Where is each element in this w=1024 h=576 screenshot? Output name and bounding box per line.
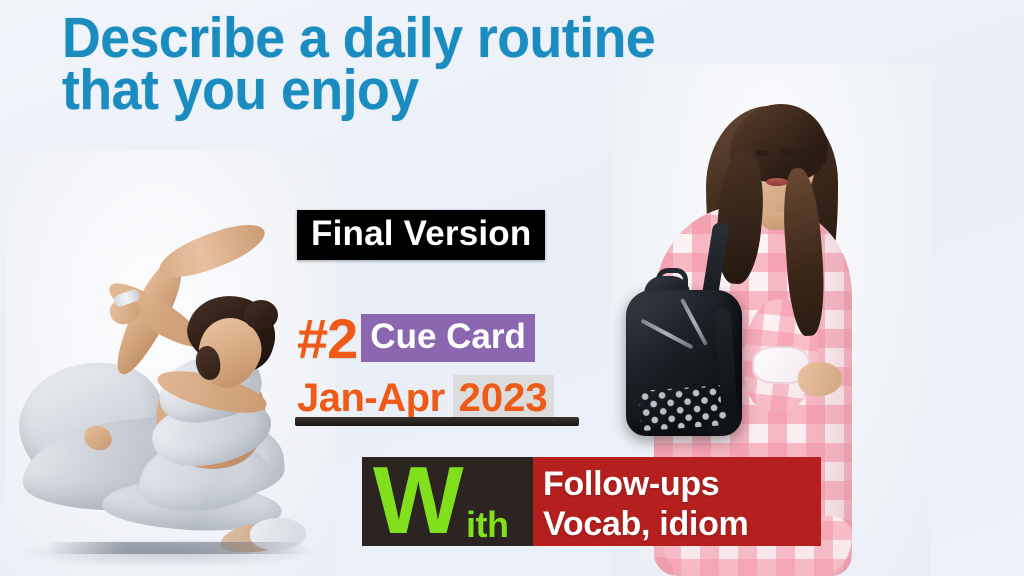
eyebrow-right [779,142,795,145]
backpack-studs [639,385,728,431]
final-version-badge: Final Version [297,210,545,260]
cue-card-number: #2 [297,312,357,366]
with-followups-block: W ith Follow-ups Vocab, idiom [362,457,821,546]
with-ith-letters: ith [466,507,508,543]
video-thumbnail: Describe a daily routine that you enjoy … [0,0,1024,576]
yoga-pose-photo [6,150,336,576]
page-title: Describe a daily routine that you enjoy [62,12,870,116]
eye-right [781,149,794,155]
eye-left [756,150,769,156]
lips [766,178,788,186]
date-underline-bar [295,417,579,426]
eyebrow-left [754,143,770,146]
with-box: W ith [362,457,533,546]
with-w-letter: W [373,453,461,549]
yoga-hair-bun [244,300,278,330]
yoga-mat [46,542,308,554]
followups-line-1: Follow-ups [543,464,821,504]
date-row: Jan-Apr 2023 [297,375,554,422]
followups-box: Follow-ups Vocab, idiom [533,457,821,546]
cue-card-row: #2 Cue Card [297,312,535,366]
date-range-label: Jan-Apr [297,376,445,420]
followups-line-2: Vocab, idiom [543,504,821,544]
cue-card-badge: Cue Card [361,314,535,362]
year-label: 2023 [453,375,554,422]
